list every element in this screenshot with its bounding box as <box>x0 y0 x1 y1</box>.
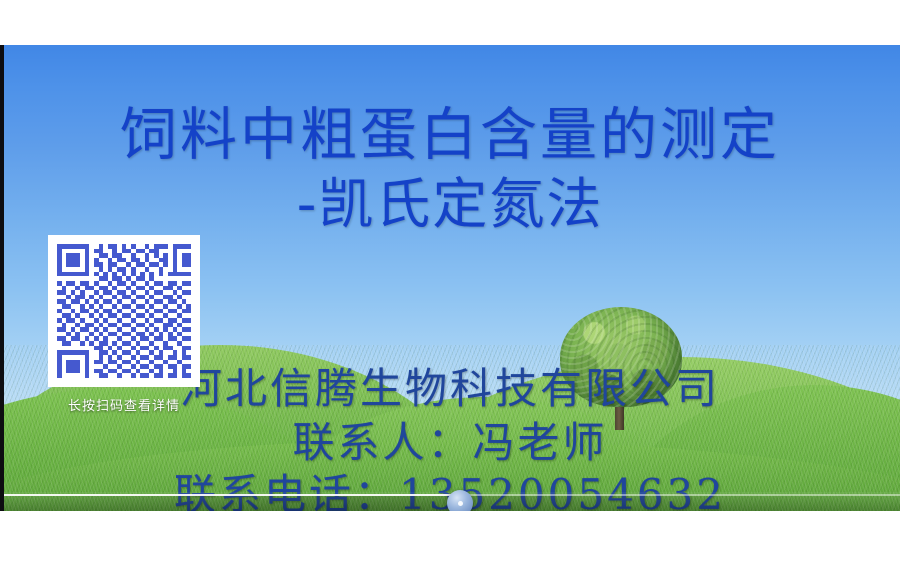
slide-title-main: 饲料中粗蛋白含量的测定 <box>0 103 900 167</box>
qr-code-image[interactable] <box>57 244 191 378</box>
page-bottom-whitespace <box>0 511 900 561</box>
progress-handle-icon[interactable] <box>447 490 473 511</box>
page-top-whitespace <box>0 0 900 45</box>
scrubber-shade-left <box>0 496 360 511</box>
slide-title-sub: -凯氏定氮法 <box>0 173 900 235</box>
frame-left-border <box>0 45 4 511</box>
screenshot-root: 饲料中粗蛋白含量的测定 -凯氏定氮法 河北信腾生物科技有限公司 联系人：冯老师 … <box>0 0 900 561</box>
video-slide-frame[interactable]: 饲料中粗蛋白含量的测定 -凯氏定氮法 河北信腾生物科技有限公司 联系人：冯老师 … <box>0 45 900 511</box>
scrubber-shade-right <box>360 496 900 511</box>
qr-module <box>186 373 191 378</box>
qr-code-block[interactable]: 长按扫码查看详情 <box>48 235 200 419</box>
qr-code-caption: 长按扫码查看详情 <box>12 395 236 414</box>
progress-track-played[interactable] <box>0 494 460 496</box>
qr-code-card[interactable] <box>48 235 200 387</box>
video-scrubber-bar[interactable] <box>0 492 900 511</box>
contact-person: 联系人：冯老师 <box>0 419 900 467</box>
